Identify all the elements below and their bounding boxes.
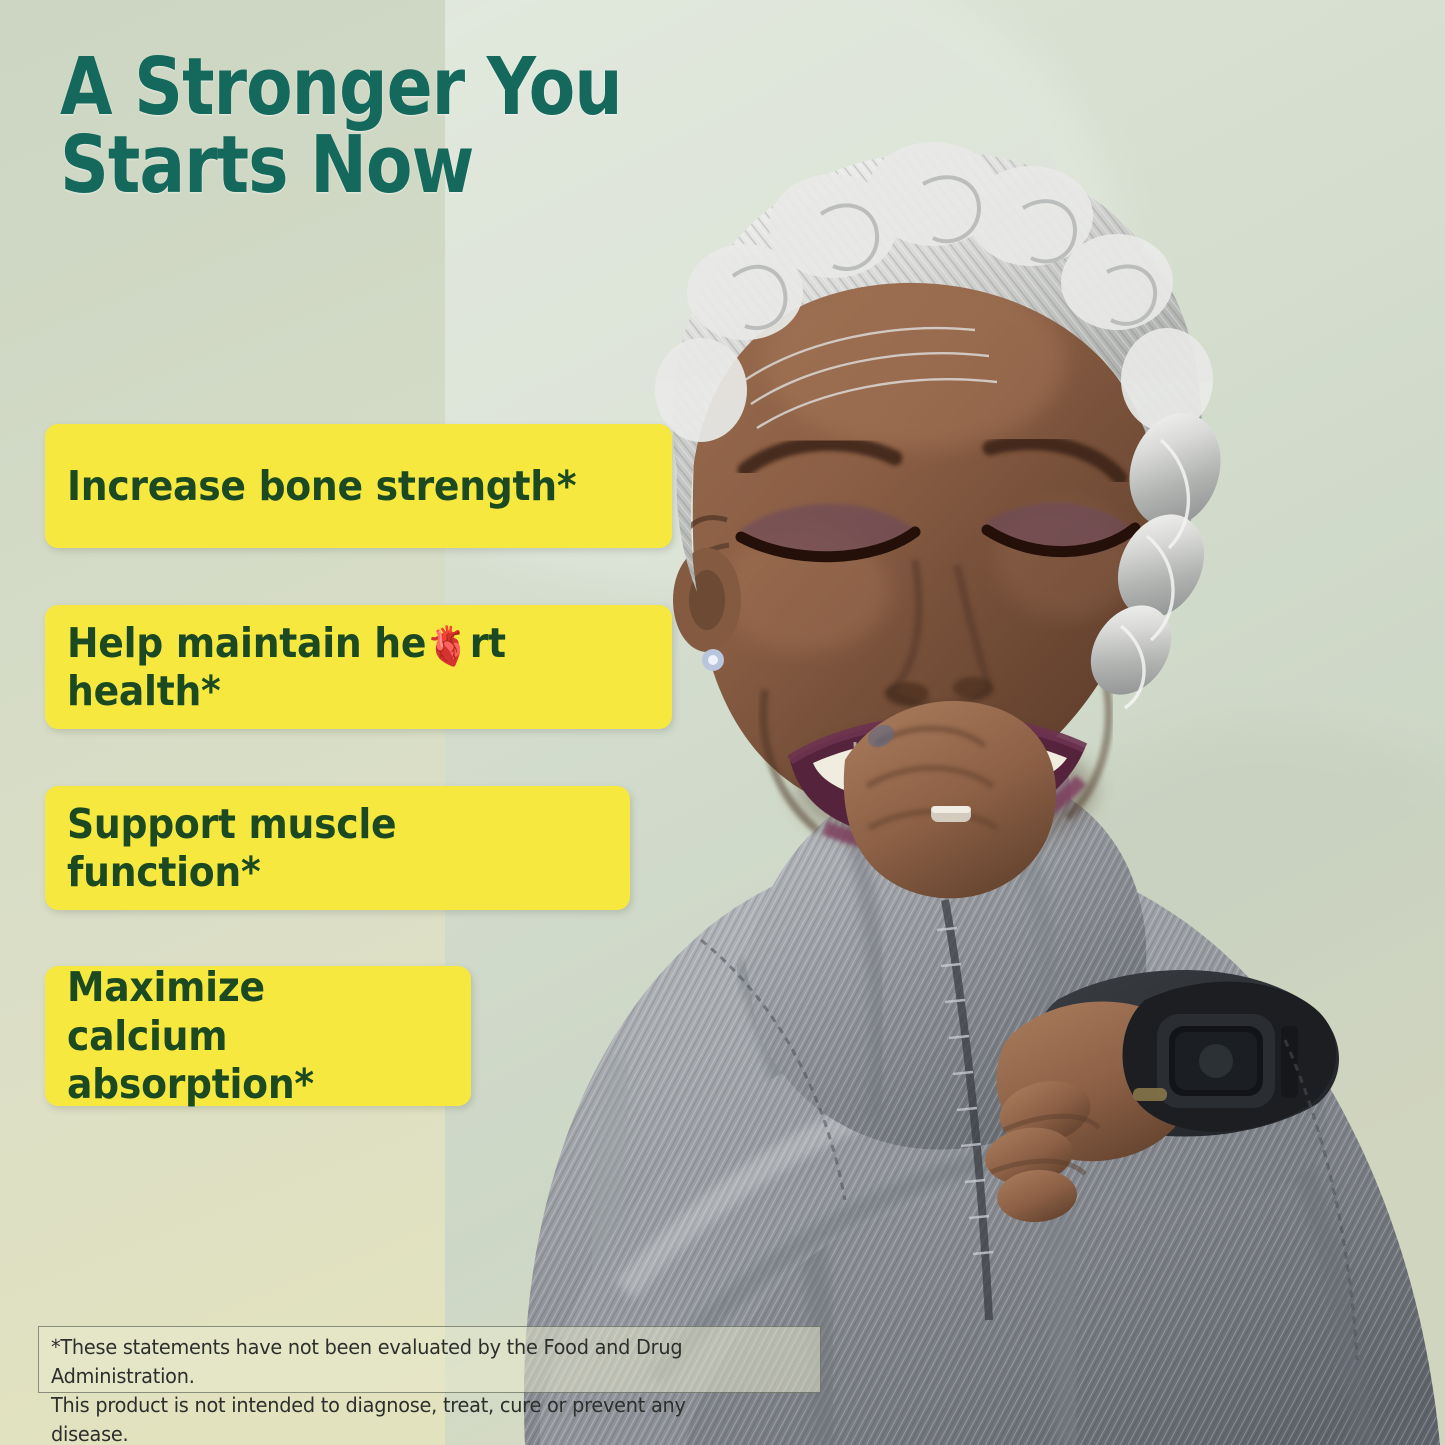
anatomical-heart-icon: 🫀 xyxy=(426,624,470,669)
benefit-label: Maximize calcium absorption* xyxy=(67,963,415,1108)
fda-disclaimer-text: *These statements have not been evaluate… xyxy=(51,1333,764,1445)
page-title: A Stronger You Starts Now xyxy=(60,48,714,204)
benefit-badge-heart-health: Help maintain he🫀rt health* xyxy=(45,605,672,729)
benefit-label: Support muscle function* xyxy=(67,800,561,897)
benefit-badge-muscle-function: Support muscle function* xyxy=(45,786,630,910)
benefit-label-before: Help maintain he xyxy=(67,619,426,667)
benefit-badge-bone-strength: Increase bone strength* xyxy=(45,424,672,548)
fda-disclaimer: *These statements have not been evaluate… xyxy=(38,1326,821,1393)
benefit-badge-calcium-absorption: Maximize calcium absorption* xyxy=(45,966,471,1106)
benefit-label: Help maintain he🫀rt health* xyxy=(67,619,600,716)
promo-banner: A Stronger You Starts Now Increase bone … xyxy=(0,0,1445,1445)
benefit-label: Increase bone strength* xyxy=(67,462,576,510)
